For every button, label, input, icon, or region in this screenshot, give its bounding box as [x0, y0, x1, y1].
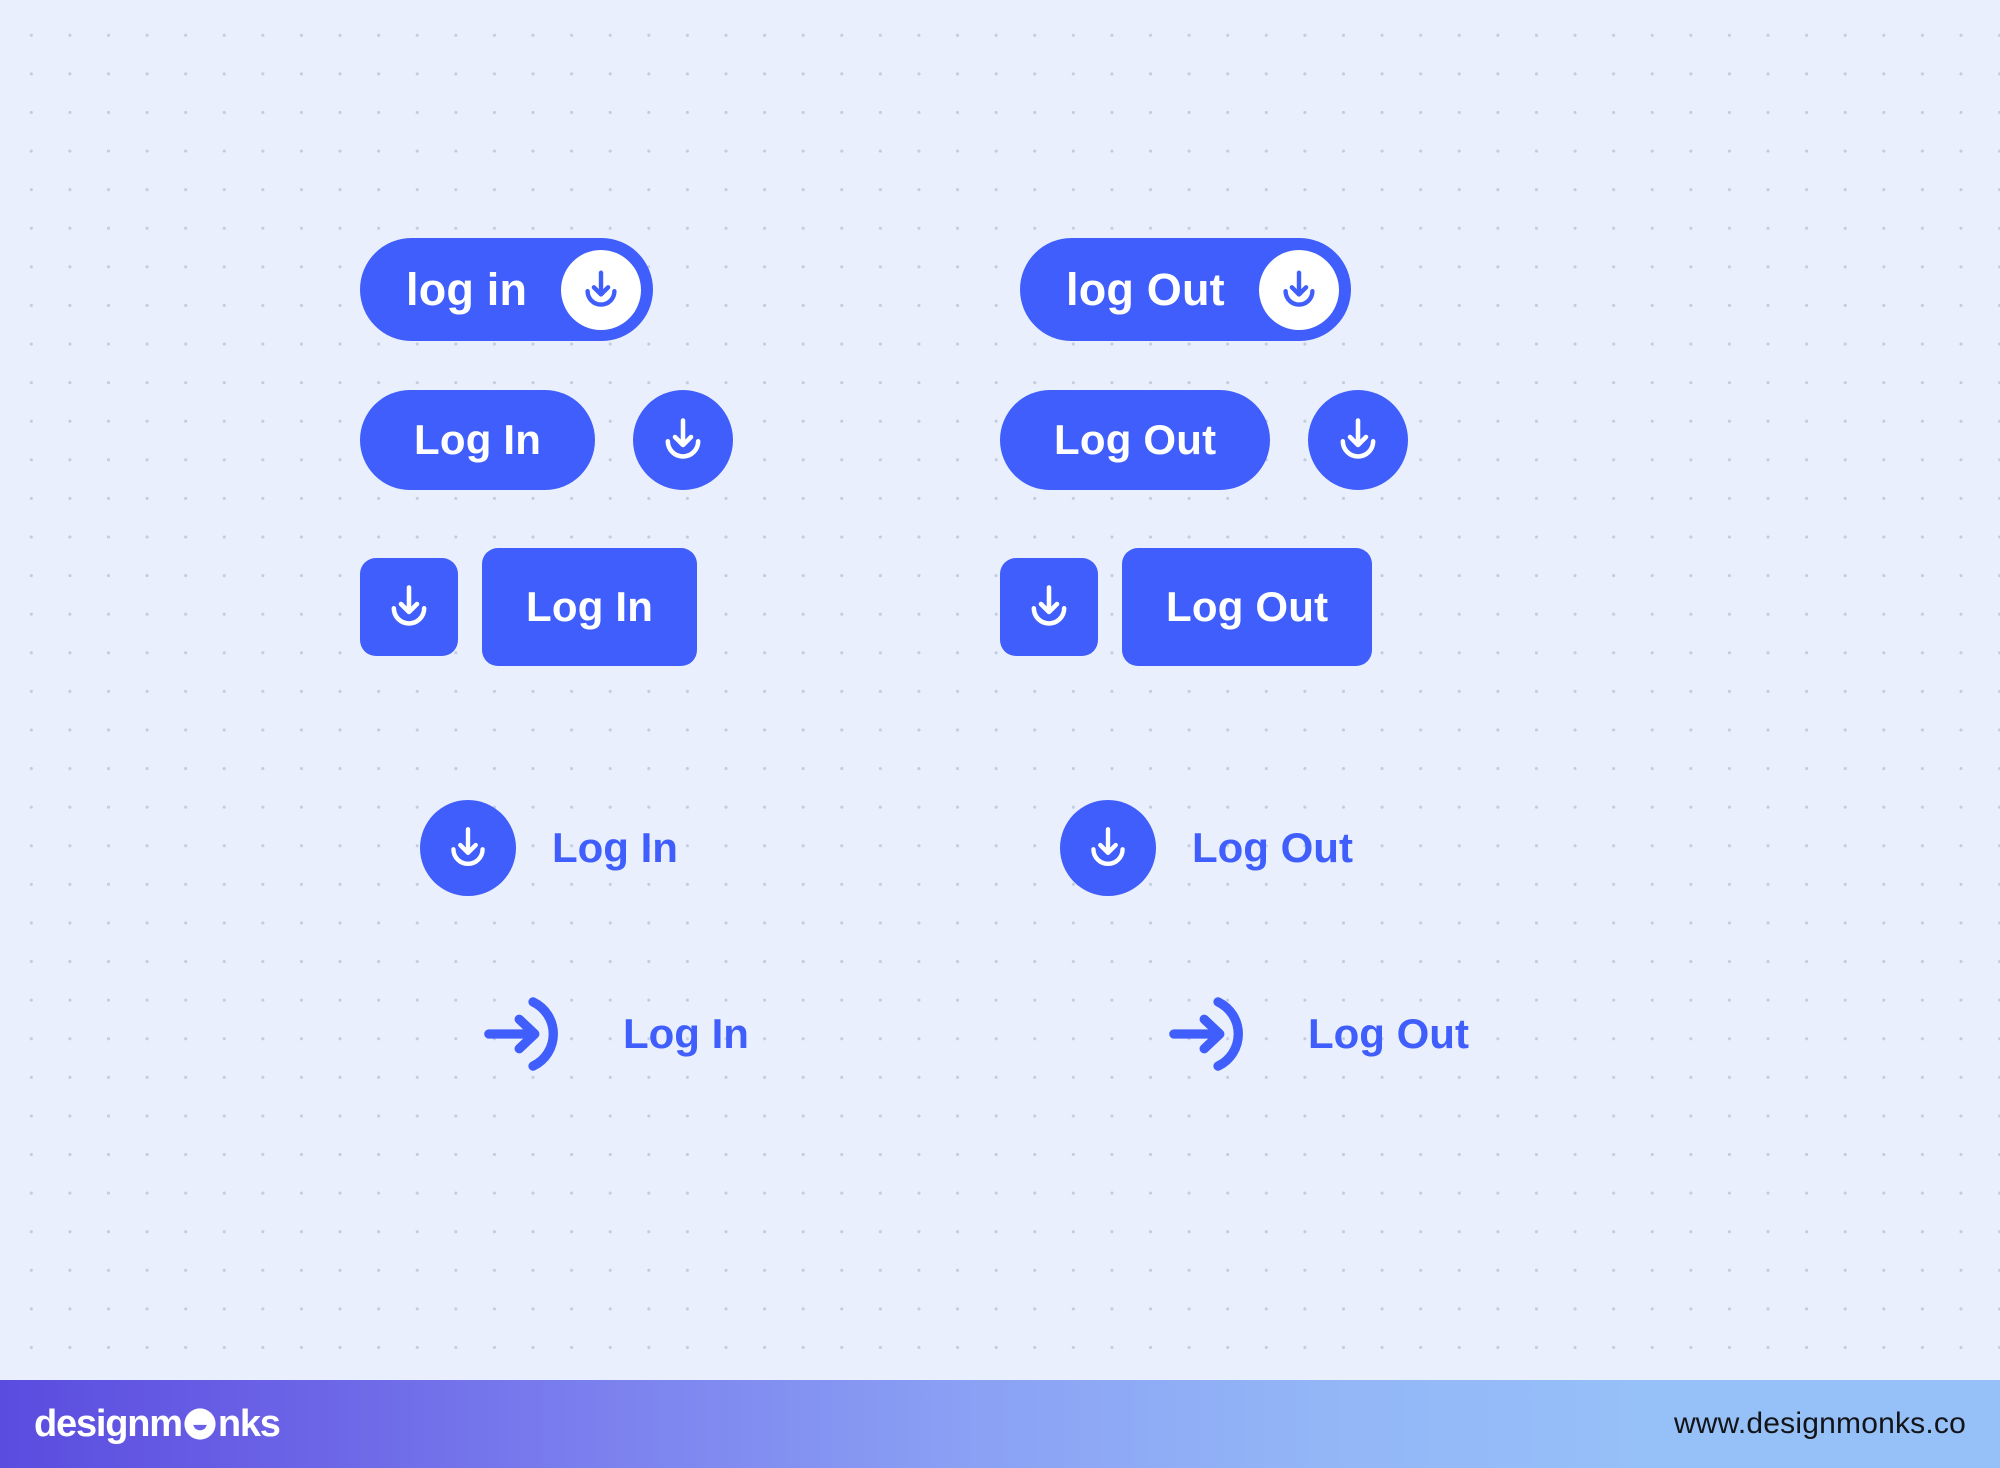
login-pill-row: Log In — [360, 390, 733, 490]
logout-circle-icon-button[interactable] — [1308, 390, 1408, 490]
logout-rect-row: Log Out — [1000, 548, 1372, 666]
download-icon — [1332, 414, 1384, 466]
brand-prefix: designm — [34, 1403, 182, 1446]
logout-pill-row: Log Out — [1000, 390, 1408, 490]
logout-combo-pill-button[interactable]: log Out — [1020, 238, 1351, 341]
download-icon — [1023, 581, 1075, 633]
login-pill-button[interactable]: Log In — [360, 390, 595, 490]
download-icon — [443, 823, 493, 873]
login-circle-icon-button[interactable] — [633, 390, 733, 490]
login-square-icon-button[interactable] — [360, 558, 458, 656]
login-combo-pill-button[interactable]: log in — [360, 238, 653, 341]
logout-square-icon-button[interactable] — [1000, 558, 1098, 656]
logout-icon-text-label: Log Out — [1192, 824, 1353, 872]
logout-circle-icon[interactable] — [1060, 800, 1156, 896]
download-icon — [657, 414, 709, 466]
login-circle-icon[interactable] — [420, 800, 516, 896]
website-url: www.designmonks.co — [1674, 1407, 1966, 1441]
download-icon — [1083, 823, 1133, 873]
login-icon-text-label: Log In — [552, 824, 678, 872]
login-combo-pill-label: log in — [406, 264, 527, 316]
login-arrow-text-row[interactable]: Log In — [475, 982, 749, 1086]
login-combo-pill-surface[interactable]: log in — [360, 238, 653, 341]
download-icon — [383, 581, 435, 633]
design-canvas — [0, 0, 2000, 1380]
download-icon[interactable] — [561, 250, 641, 330]
login-arrow-icon[interactable] — [475, 982, 579, 1086]
login-rect-row: Log In — [360, 548, 697, 666]
designmonks-logo: designm nks — [34, 1403, 280, 1446]
download-icon[interactable] — [1259, 250, 1339, 330]
logout-pill-button[interactable]: Log Out — [1000, 390, 1270, 490]
logout-icon-text-row[interactable]: Log Out — [1060, 800, 1353, 896]
footer-bar: designm nks www.designmonks.co — [0, 1380, 2000, 1468]
logout-arrow-text-row[interactable]: Log Out — [1160, 982, 1469, 1086]
logout-combo-pill-label: log Out — [1066, 264, 1225, 316]
login-arrow-text-label: Log In — [623, 1010, 749, 1058]
smiley-o-icon — [182, 1407, 218, 1441]
login-rect-button[interactable]: Log In — [482, 548, 697, 666]
logout-arrow-icon[interactable] — [1160, 982, 1264, 1086]
logout-arrow-text-label: Log Out — [1308, 1010, 1469, 1058]
login-icon-text-row[interactable]: Log In — [420, 800, 678, 896]
logout-combo-pill-surface[interactable]: log Out — [1020, 238, 1351, 341]
logout-rect-button[interactable]: Log Out — [1122, 548, 1372, 666]
brand-suffix: nks — [218, 1403, 280, 1446]
